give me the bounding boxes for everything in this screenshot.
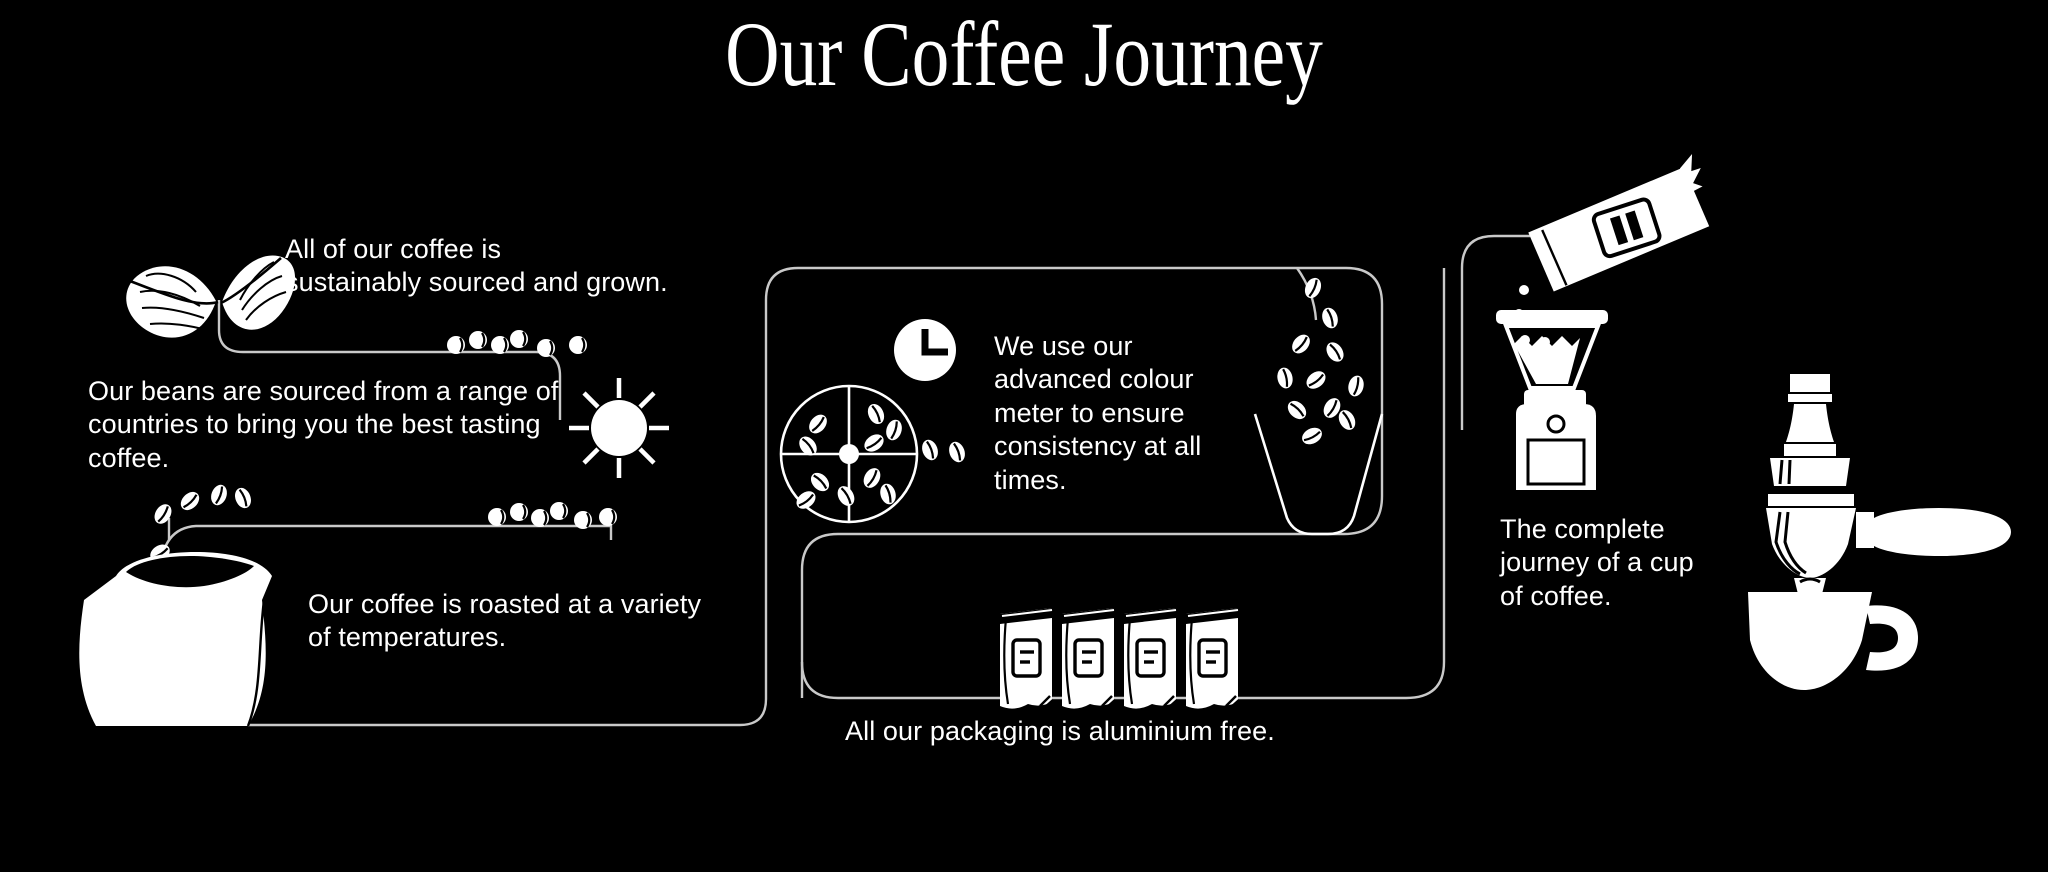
infographic-canvas: Our Coffee Journey All of our coffee is … <box>0 0 2048 872</box>
clock-icon <box>894 319 956 381</box>
sun-icon <box>569 378 669 478</box>
sachet-icon <box>1521 153 1723 294</box>
connector-box-to-sachet <box>1462 236 1530 430</box>
roasting-drum-icon <box>781 386 968 522</box>
coffee-leaf-icon <box>118 256 295 338</box>
connector-quality-and-packaging-boxes <box>798 268 1444 698</box>
portafilter-icon <box>1766 494 2011 594</box>
spilling-beans-into-funnel <box>1275 275 1365 447</box>
coffee-cup-icon <box>1748 592 1918 690</box>
grinder-icon <box>1496 310 1608 490</box>
tamper-icon <box>1770 374 1850 486</box>
flow-connectors <box>160 236 1530 725</box>
coffee-packet-icon <box>1000 608 1241 709</box>
infographic-illustration <box>0 0 2048 872</box>
coffee-sack-icon <box>79 552 272 726</box>
